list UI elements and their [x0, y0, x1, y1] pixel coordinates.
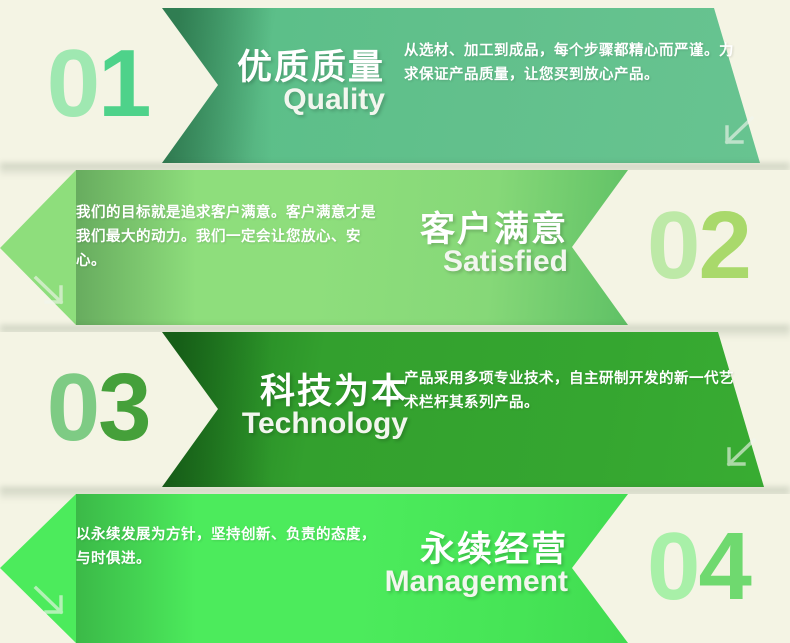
panel-number: 01 — [47, 36, 150, 132]
arrow-down-right-icon — [30, 581, 70, 621]
panel-number-digit-1: 0 — [47, 30, 98, 137]
panel-title-en: Quality — [200, 84, 385, 116]
panel-title-en: Management — [353, 566, 568, 598]
panel-title-cn: 永续经营 — [353, 532, 568, 569]
panel-title-group: 科技为本 Technology — [196, 374, 408, 439]
infographic-canvas: 01 优质质量 Quality 从选材、加工到成品，每个步骤都精心而严谨。力求保… — [0, 0, 790, 643]
feature-panel-03: 03 科技为本 Technology 产品采用多项专业技术，自主研制开发的新一代… — [0, 332, 790, 487]
panel-description: 从选材、加工到成品，每个步骤都精心而严谨。力求保证产品质量，让您买到放心产品。 — [404, 40, 734, 88]
panel-title-cn: 优质质量 — [200, 50, 385, 87]
panel-number: 04 — [647, 519, 750, 615]
panel-number-digit-2: 3 — [98, 354, 149, 461]
arrow-down-left-icon — [718, 111, 758, 151]
panel-title-cn: 科技为本 — [196, 374, 408, 411]
panel-number-digit-1: 0 — [647, 513, 698, 620]
panel-description: 以永续发展为方针，坚持创新、负责的态度，与时俱进。 — [76, 524, 376, 572]
panel-title-cn: 客户满意 — [368, 212, 568, 249]
panel-title-en: Technology — [196, 408, 408, 440]
panel-title-group: 优质质量 Quality — [200, 50, 385, 115]
panel-description: 产品采用多项专业技术，自主研制开发的新一代艺术栏杆其系列产品。 — [404, 368, 734, 416]
arrow-down-left-icon — [720, 433, 760, 473]
feature-panel-02: 02 客户满意 Satisfied 我们的目标就是追求客户满意。客户满意才是我们… — [0, 170, 790, 325]
panel-title-en: Satisfied — [368, 246, 568, 278]
feature-panel-04: 04 永续经营 Management 以永续发展为方针，坚持创新、负责的态度，与… — [0, 494, 790, 643]
panel-number-digit-1: 0 — [647, 192, 698, 299]
panel-number-digit-2: 4 — [698, 513, 749, 620]
feature-panel-01: 01 优质质量 Quality 从选材、加工到成品，每个步骤都精心而严谨。力求保… — [0, 8, 790, 163]
panel-description: 我们的目标就是追求客户满意。客户满意才是我们最大的动力。我们一定会让您放心、安心… — [76, 202, 376, 274]
panel-title-group: 永续经营 Management — [353, 532, 568, 597]
panel-title-group: 客户满意 Satisfied — [368, 212, 568, 277]
arrow-down-right-icon — [30, 271, 70, 311]
panel-number-digit-1: 0 — [47, 354, 98, 461]
panel-number-digit-2: 1 — [98, 30, 149, 137]
panel-number: 03 — [47, 360, 150, 456]
panel-number-digit-2: 2 — [698, 192, 749, 299]
panel-number: 02 — [647, 198, 750, 294]
